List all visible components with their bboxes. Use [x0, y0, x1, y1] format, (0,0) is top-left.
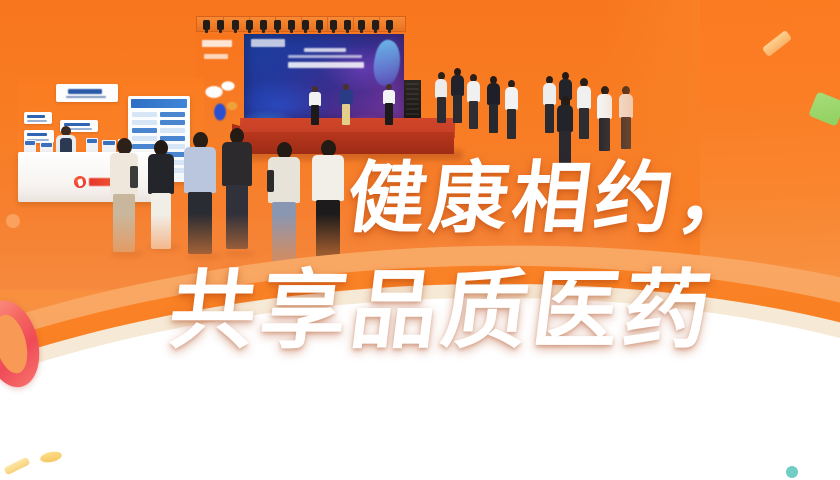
stage-lamp-icon	[217, 20, 224, 30]
visitor-crowd	[486, 76, 501, 134]
banner-logo	[202, 40, 232, 47]
photo-right-fade	[600, 0, 700, 290]
led-ribbon-graphic	[370, 38, 405, 88]
visitor-crowd	[576, 78, 592, 140]
stage-lamp-icon	[372, 20, 379, 30]
visitor-crowd	[504, 80, 519, 140]
stage-performer	[382, 84, 396, 126]
stage-lamp-icon	[288, 20, 295, 30]
stage-performer	[338, 84, 354, 126]
line-array-speaker	[404, 80, 421, 120]
stage-lamp-icon	[232, 20, 239, 30]
stage-lamp-icon	[203, 20, 210, 30]
booth-header-sign	[56, 84, 118, 102]
visitor-crowd	[556, 96, 574, 168]
led-subtitle-line	[288, 55, 362, 58]
booth-poster-panel	[24, 112, 52, 124]
stage-lamp-icon	[344, 20, 351, 30]
confetti-dot-orange	[6, 214, 20, 228]
banner-subtitle	[204, 54, 228, 59]
led-title-line	[304, 48, 346, 52]
led-logo	[251, 39, 285, 47]
led-maintitle-line	[288, 62, 364, 68]
poster-canvas: 健康相约， 共享品质医药	[0, 0, 840, 480]
stage-lamp-icon	[330, 20, 337, 30]
led-wave-graphic	[244, 84, 404, 120]
product-box	[86, 138, 98, 153]
confetti-dot-teal	[786, 466, 798, 478]
visitor-crowd	[466, 74, 481, 130]
stage-lamp-icon	[386, 20, 393, 30]
stage-lamp-icon	[246, 20, 253, 30]
stage-lamp-icon	[274, 20, 281, 30]
stage-lamp-icon	[316, 20, 323, 30]
stage-performer	[308, 86, 322, 126]
stage-lamp-icon	[302, 20, 309, 30]
brand-mark-icon	[74, 176, 86, 188]
visitor-crowd	[542, 76, 557, 134]
stage-lamp-icon	[260, 20, 267, 30]
lighting-truss	[196, 16, 406, 32]
booth-counter	[18, 152, 166, 202]
visitor-crowd	[450, 68, 465, 124]
stage-lamp-icon	[358, 20, 365, 30]
visitor-crowd	[434, 72, 448, 124]
led-stage-screen	[244, 34, 404, 120]
